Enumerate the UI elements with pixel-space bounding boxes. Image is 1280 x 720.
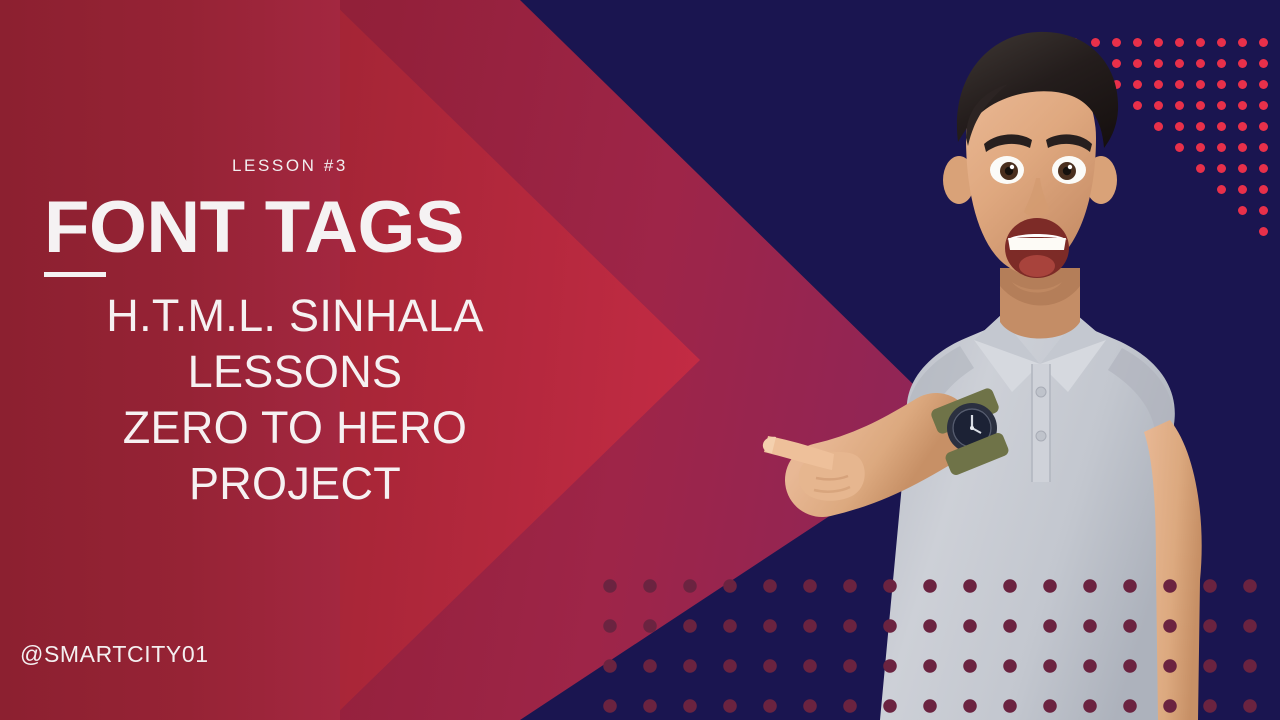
title-underline-rule	[44, 272, 106, 277]
dot-grid-pattern	[600, 576, 1280, 720]
page-title: FONT TAGS	[44, 190, 464, 266]
lesson-label: LESSON #3	[0, 156, 580, 176]
subtitle-line: PROJECT	[30, 456, 560, 512]
neck	[1000, 268, 1080, 339]
thumbnail-canvas: LESSON #3 FONT TAGS H.T.M.L. SINHALALESS…	[0, 0, 1280, 720]
subtitle-line: ZERO TO HERO	[30, 400, 560, 456]
channel-handle: @SMARTCITY01	[20, 641, 209, 668]
text-content-block: LESSON #3 FONT TAGS H.T.M.L. SINHALALESS…	[0, 0, 580, 720]
subtitle: H.T.M.L. SINHALALESSONSZERO TO HEROPROJE…	[30, 288, 560, 512]
subtitle-line: H.T.M.L. SINHALA	[30, 288, 560, 344]
head	[943, 32, 1118, 293]
subtitle-line: LESSONS	[30, 344, 560, 400]
